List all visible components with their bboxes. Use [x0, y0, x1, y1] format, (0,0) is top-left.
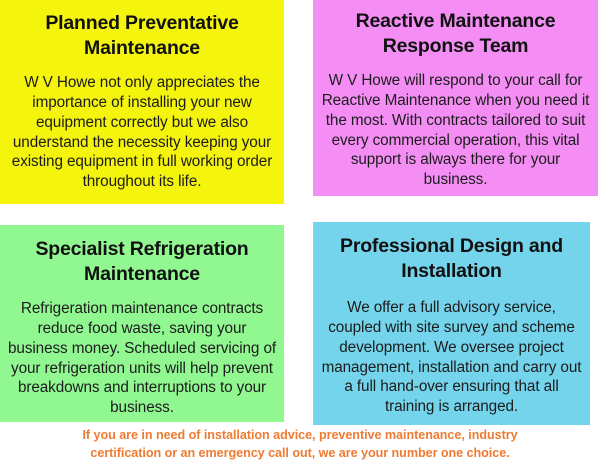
services-panel-board: Planned Preventative Maintenance W V How… [0, 0, 600, 463]
panel-planned-preventative-maintenance: Planned Preventative Maintenance W V How… [0, 0, 284, 204]
panel-title-reactive-maintenance-response-team: Reactive Maintenance Response Team [313, 9, 598, 59]
panel-title-professional-design-and-installation: Professional Design and Installation [313, 234, 590, 284]
footer-banner-line-2: certification or an emergency call out, … [90, 445, 509, 463]
footer-banner-line-1: If you are in need of installation advic… [82, 427, 517, 445]
panel-body-specialist-refrigeration-maintenance: Refrigeration maintenance contracts redu… [0, 287, 284, 418]
panel-body-reactive-maintenance-response-team: W V Howe will respond to your call for R… [313, 59, 598, 190]
panel-reactive-maintenance-response-team: Reactive Maintenance Response Team W V H… [313, 0, 598, 196]
panel-body-professional-design-and-installation: We offer a full advisory service, couple… [313, 284, 590, 417]
panel-professional-design-and-installation: Professional Design and Installation We … [313, 222, 590, 425]
panel-title-planned-preventative-maintenance: Planned Preventative Maintenance [0, 11, 284, 61]
panel-specialist-refrigeration-maintenance: Specialist Refrigeration Maintenance Ref… [0, 225, 284, 422]
panel-title-specialist-refrigeration-maintenance: Specialist Refrigeration Maintenance [0, 237, 284, 287]
footer-call-to-action-banner: If you are in need of installation advic… [0, 426, 600, 463]
panel-body-planned-preventative-maintenance: W V Howe not only appreciates the import… [0, 61, 284, 192]
